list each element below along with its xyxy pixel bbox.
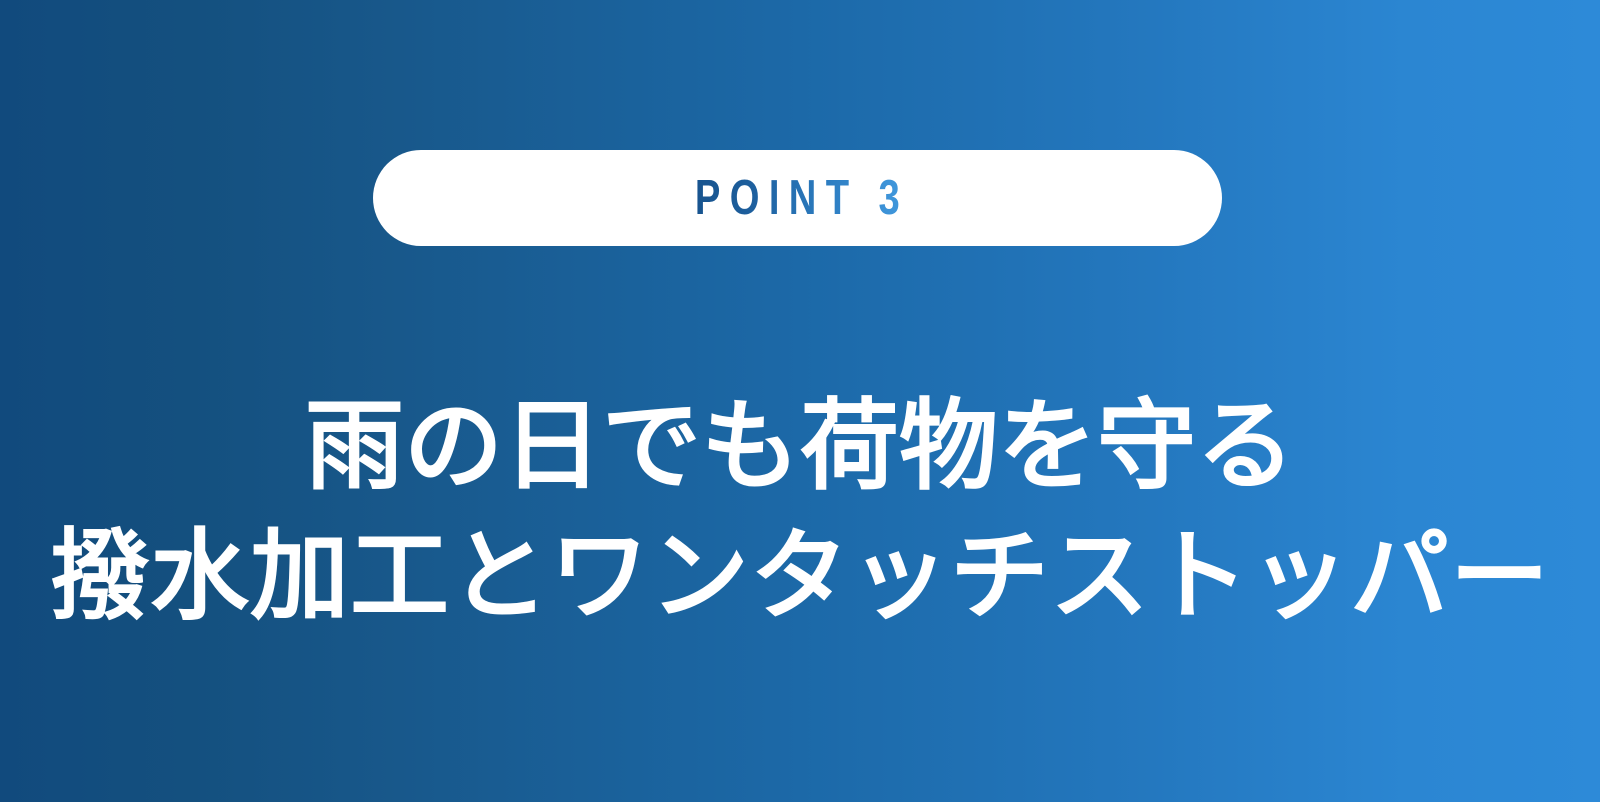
headline: 雨の日でも荷物を守る 撥水加工とワンタッチストッパー [0, 381, 1600, 641]
headline-line-2: 撥水加工とワンタッチストッパー [0, 511, 1600, 641]
point-badge-wrapper: POINT 3 [373, 150, 1222, 246]
point-badge-label: POINT 3 [686, 174, 910, 223]
point-badge: POINT 3 [373, 150, 1222, 246]
headline-line-1: 雨の日でも荷物を守る [0, 381, 1600, 511]
promo-banner: POINT 3 雨の日でも荷物を守る 撥水加工とワンタッチストッパー [0, 0, 1600, 802]
